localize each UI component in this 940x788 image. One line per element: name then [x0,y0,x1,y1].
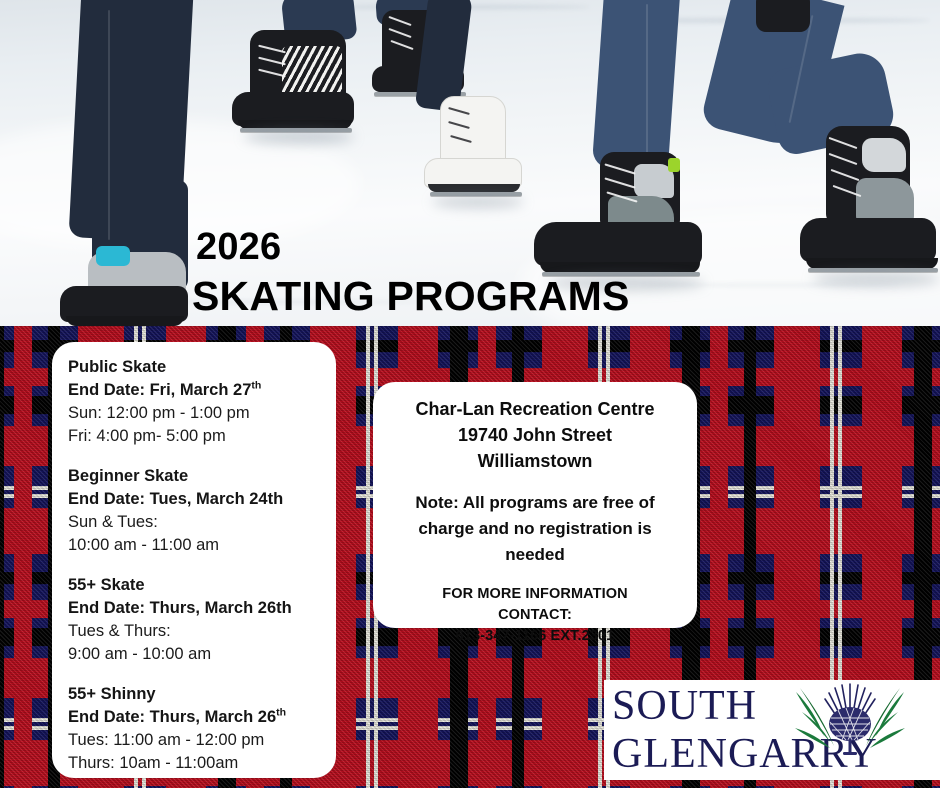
denim-seam [108,10,110,240]
ice-shadow [432,196,524,208]
programs-card: Public Skate End Date: Fri, March 27th S… [52,342,336,778]
contact-heading: FOR MORE INFORMATION [389,584,681,605]
skate-blade-holder [66,316,184,326]
program-time: Fri: 4:00 pm- 5:00 pm [68,425,320,448]
contact-info: FOR MORE INFORMATION CONTACT: 613-347-11… [389,584,681,647]
program-entry: Beginner Skate End Date: Tues, March 24t… [68,465,320,557]
poster-title-main: SKATING PROGRAMS [192,273,630,319]
venue-name: Char-Lan Recreation Centre [389,396,681,422]
program-end-date: End Date: Thurs, March 26th [68,597,320,620]
program-end-date: End Date: Thurs, March 26th [68,706,320,729]
programs-note: Note: All programs are free of charge an… [395,490,675,568]
venue-address: 19740 John Street [389,422,681,448]
venue-city: Williamstown [389,448,681,474]
poster-title-block: 2026 SKATING PROGRAMS [192,225,630,319]
skate-blade-holder [428,184,520,192]
ice-shadow [812,272,940,286]
skater-leg [592,0,680,172]
program-end-date-suffix: th [251,380,261,392]
program-time: Sun & Tues: [68,511,320,534]
skate-accent [96,246,130,266]
program-end-date-text: End Date: Tues, March 24th [68,490,283,508]
skating-programs-poster: 2026 SKATING PROGRAMS Public Skate End D… [0,0,940,788]
ice-skate-boot [756,0,810,32]
program-entry: Public Skate End Date: Fri, March 27th S… [68,356,320,448]
program-name: Beginner Skate [68,465,320,488]
program-time: 9:00 am - 10:00 am [68,643,320,666]
venue-info-card: Char-Lan Recreation Centre 19740 John St… [373,382,697,628]
program-time: Tues & Thurs: [68,620,320,643]
denim-seam [646,4,648,160]
program-time: Thurs: 10am - 11:00am [68,752,320,775]
ice-shadow [244,130,354,144]
program-end-date: End Date: Tues, March 24th [68,488,320,511]
contact-subheading: CONTACT: [389,605,681,626]
thistle-icon [794,682,906,756]
program-time: Sun: 12:00 pm - 1:00 pm [68,402,320,425]
skate-panel [862,138,906,172]
skate-accent [668,158,680,172]
program-name: Public Skate [68,356,320,379]
ice-skate-boot [800,218,936,262]
program-entry: 55+ Shinny End Date: Thurs, March 26th T… [68,683,320,775]
south-glengarry-logo: SOUTH GLENGARRY [604,680,940,780]
contact-phone: 613-347-1166 EXT.2301 [389,626,681,647]
program-end-date-text: End Date: Thurs, March 26 [68,708,276,726]
program-name: 55+ Shinny [68,683,320,706]
program-time: 10:00 am - 11:00 am [68,534,320,557]
program-entry: 55+ Skate End Date: Thurs, March 26th Tu… [68,574,320,666]
program-end-date-text: End Date: Fri, March 27 [68,381,251,399]
program-name: 55+ Skate [68,574,320,597]
poster-title-year: 2026 [196,225,630,269]
program-time: Tues: 11:00 am - 12:00 pm [68,729,320,752]
program-end-date-text: End Date: Thurs, March 26th [68,599,292,617]
program-end-date-suffix: th [276,707,286,719]
program-end-date: End Date: Fri, March 27th [68,379,320,402]
